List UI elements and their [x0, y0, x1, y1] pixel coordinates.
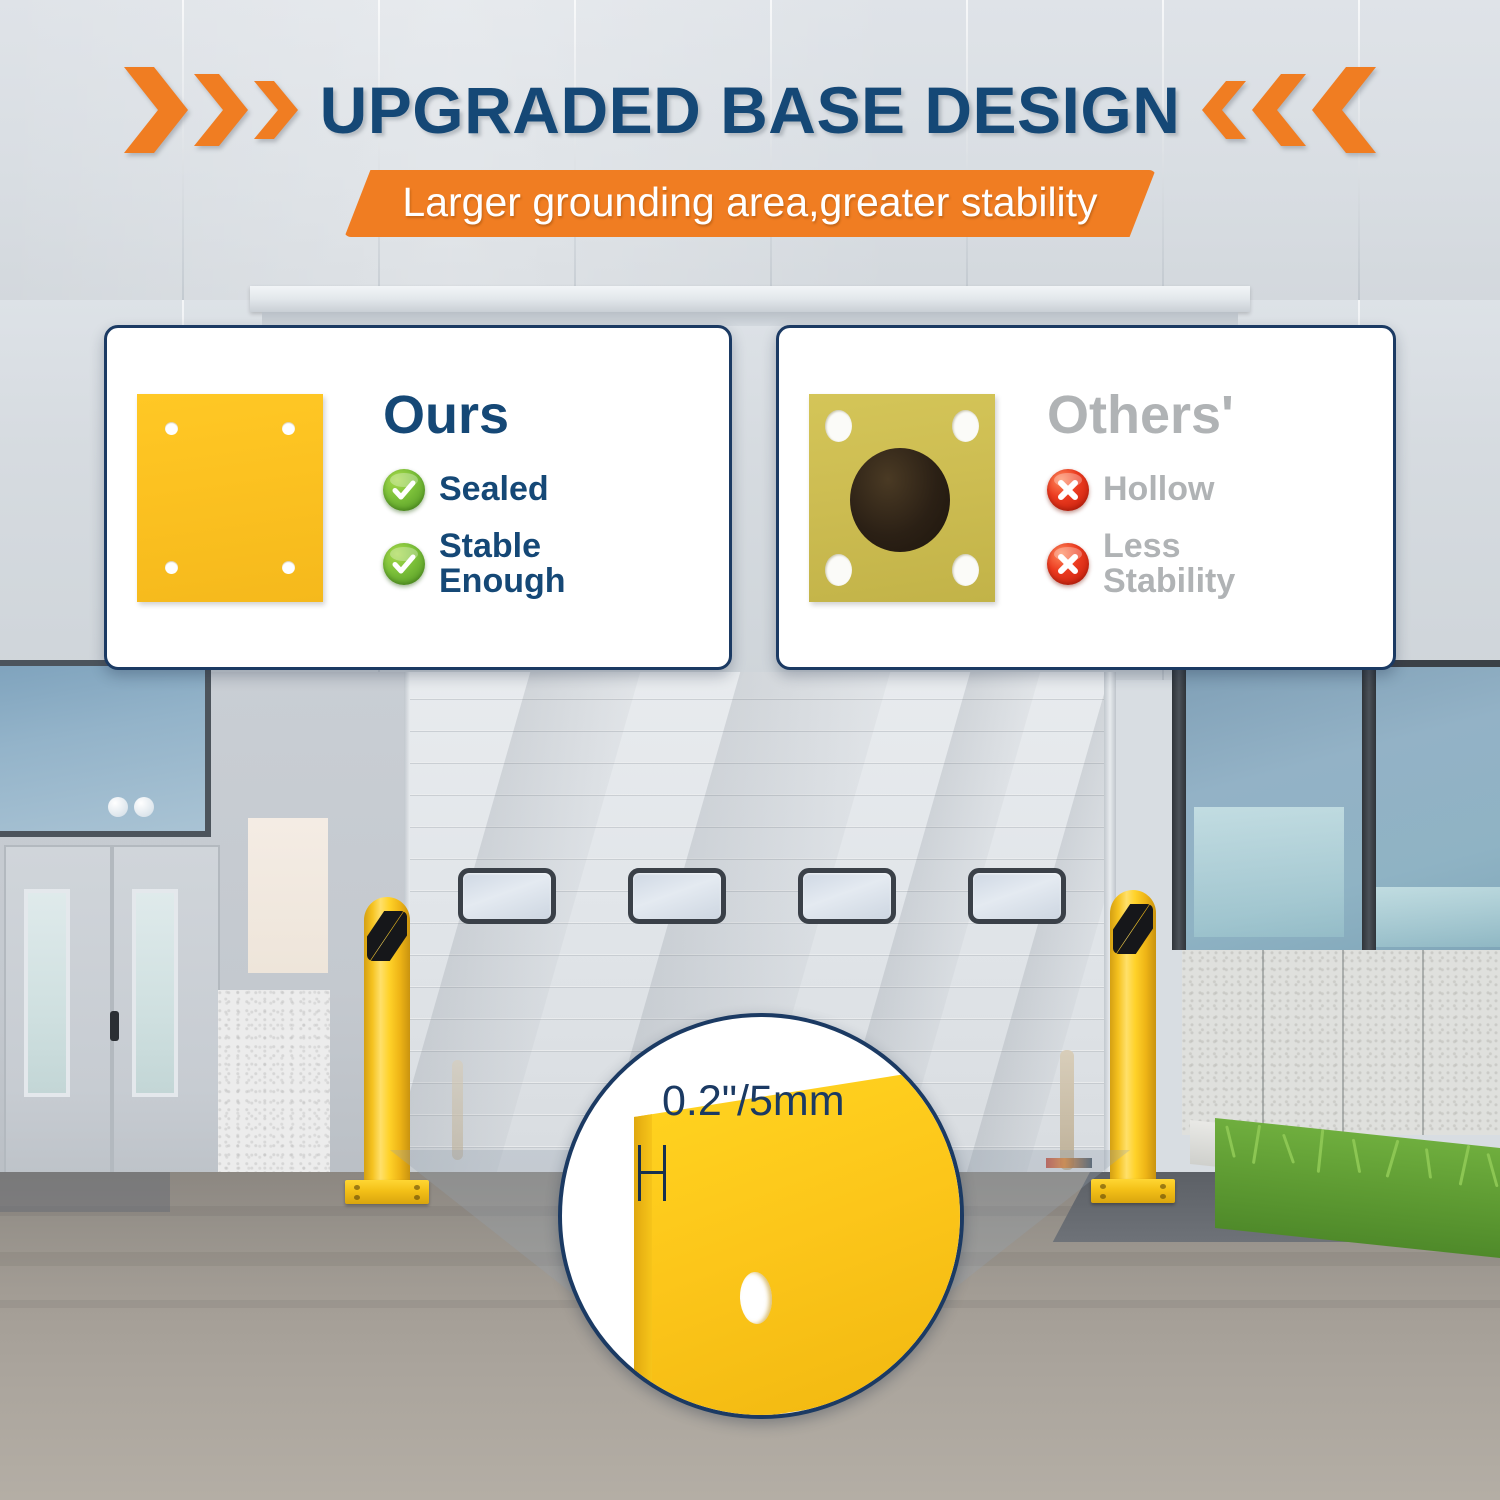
office-upper-window	[0, 660, 211, 837]
roller-door-window	[968, 868, 1066, 924]
plate-bolt-hole	[165, 422, 178, 435]
comparison-card-others: Others' Hollow Les	[776, 325, 1396, 670]
others-feature-label-multiline: Less Stability	[1103, 529, 1235, 598]
hazard-stripe-icon	[1113, 904, 1153, 954]
others-feature-label-line1: Less	[1103, 529, 1235, 564]
plate-bolt-hole	[282, 561, 295, 574]
plate-bolt-hole	[165, 561, 178, 574]
door-vision-panel	[132, 889, 178, 1097]
page-title: UPGRADED BASE DESIGN	[320, 72, 1181, 148]
plate-bolt-hole	[282, 422, 295, 435]
glass-curtain-wall	[1182, 660, 1500, 957]
ours-feature-label-multiline: Stable Enough	[439, 529, 566, 598]
plate-bolt-hole	[952, 554, 979, 586]
others-plate-figure	[809, 394, 995, 602]
ours-text-column: Ours Sealed Stable Enough	[323, 388, 703, 607]
hazard-stripe-icon	[367, 911, 407, 961]
ours-feature-label-line2: Enough	[439, 564, 566, 599]
plate-bolt-hole	[825, 410, 852, 442]
header-title-row: UPGRADED BASE DESIGN	[0, 60, 1500, 160]
window-mullion	[1362, 660, 1376, 950]
subtitle-banner: Larger grounding area,greater stability	[344, 170, 1155, 237]
header-subtitle-row: Larger grounding area,greater stability	[0, 170, 1500, 237]
others-heading: Others'	[1047, 388, 1234, 442]
interior-lamp-icon	[134, 797, 154, 817]
others-feature-hollow: Hollow	[1047, 469, 1214, 511]
plate-bolt-hole	[952, 410, 979, 442]
cream-wall-panel	[248, 818, 328, 973]
plate-bolt-hole	[825, 554, 852, 586]
chevron-left-triple-icon	[1202, 67, 1376, 153]
solid-yellow-base-plate	[137, 394, 323, 602]
stucco-wall-panel	[218, 990, 330, 1172]
entry-door-left	[4, 845, 112, 1194]
door-lintel	[250, 286, 1250, 312]
plate-center-hollow-hole	[850, 448, 950, 552]
others-feature-label: Hollow	[1103, 472, 1214, 507]
chevron-right-triple-icon	[124, 67, 298, 153]
ours-feature-stable: Stable Enough	[383, 529, 566, 598]
ours-feature-sealed: Sealed	[383, 469, 549, 511]
others-text-column: Others' Hollow Les	[995, 388, 1367, 607]
red-x-icon	[1047, 543, 1089, 585]
door-vision-panel	[24, 889, 70, 1097]
ours-feature-label-line1: Stable	[439, 529, 566, 564]
ours-heading: Ours	[383, 388, 509, 442]
interior-lamp-icon	[108, 797, 128, 817]
roller-door-window	[798, 868, 896, 924]
green-check-icon	[383, 543, 425, 585]
thickness-dimension-icon	[638, 1145, 668, 1201]
comparison-card-ours: Ours Sealed Stable Enough	[104, 325, 732, 670]
thickness-zoom-callout: 0.2"/5mm	[558, 1013, 964, 1419]
page-subtitle: Larger grounding area,greater stability	[402, 179, 1097, 226]
thickness-dimension-label: 0.2"/5mm	[662, 1077, 845, 1126]
roller-door-window	[458, 868, 556, 924]
door-lintel-underside	[262, 312, 1238, 326]
entry-door-right	[112, 845, 220, 1194]
window-mullion	[1172, 660, 1186, 950]
others-feature-stability: Less Stability	[1047, 529, 1235, 598]
concrete-panel-wall	[1182, 950, 1500, 1135]
ours-feature-label: Sealed	[439, 472, 549, 507]
ours-plate-figure	[137, 394, 323, 602]
infographic-canvas: UPGRADED BASE DESIGN Larger grounding ar…	[0, 0, 1500, 1500]
others-feature-label-line2: Stability	[1103, 564, 1235, 599]
door-handle[interactable]	[110, 1011, 119, 1041]
ground-shadow	[0, 1172, 170, 1212]
hollow-olive-base-plate	[809, 394, 995, 602]
red-x-icon	[1047, 469, 1089, 511]
hanging-cable	[452, 1060, 463, 1160]
green-check-icon	[383, 469, 425, 511]
roller-door-window	[628, 868, 726, 924]
